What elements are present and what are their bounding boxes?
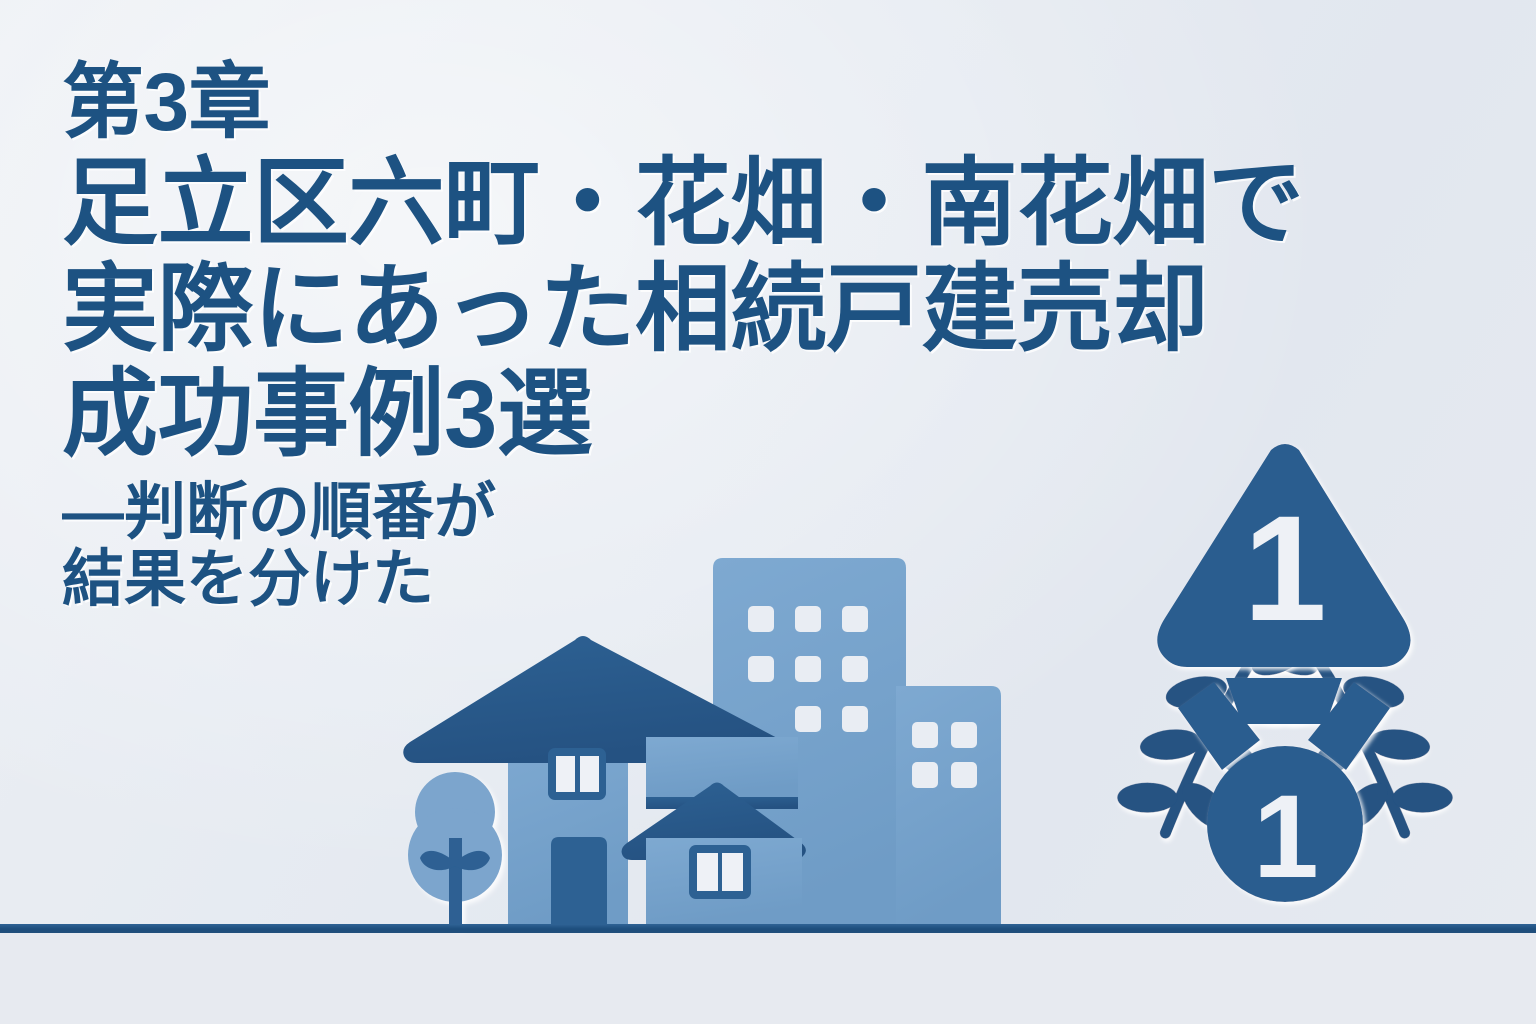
house-window-upper — [548, 748, 606, 800]
title-line-4: 成功事例3選 — [62, 364, 1322, 466]
chapter-label: 第3章 — [62, 60, 1322, 147]
baseline-rule — [0, 924, 1536, 933]
title-line-3: 実際にあった相続戸建売却 — [62, 259, 1322, 361]
banner-canvas: 1 1 第3章 足立区六町・花畑・南花畑で 実際にあった相続戸建売却 成功事例3… — [0, 0, 1536, 1024]
subtitle-line-2: 結果を分けた — [62, 547, 1322, 614]
medal-circle: 1 — [1207, 746, 1363, 903]
house-window-lower — [689, 845, 751, 899]
title-block: 第3章 足立区六町・花畑・南花畑で 実際にあった相続戸建売却 成功事例3選 ―判… — [62, 60, 1322, 614]
subtitle-line-1: ―判断の順番が — [62, 480, 1322, 547]
house-door — [551, 837, 607, 924]
subtitle-block: ―判断の順番が 結果を分けた — [62, 480, 1322, 614]
office-annex — [896, 686, 1001, 924]
title-line-2: 足立区六町・花畑・南花畑で — [62, 153, 1322, 255]
tree-icon — [408, 772, 502, 928]
medal-number: 1 — [1253, 771, 1319, 903]
